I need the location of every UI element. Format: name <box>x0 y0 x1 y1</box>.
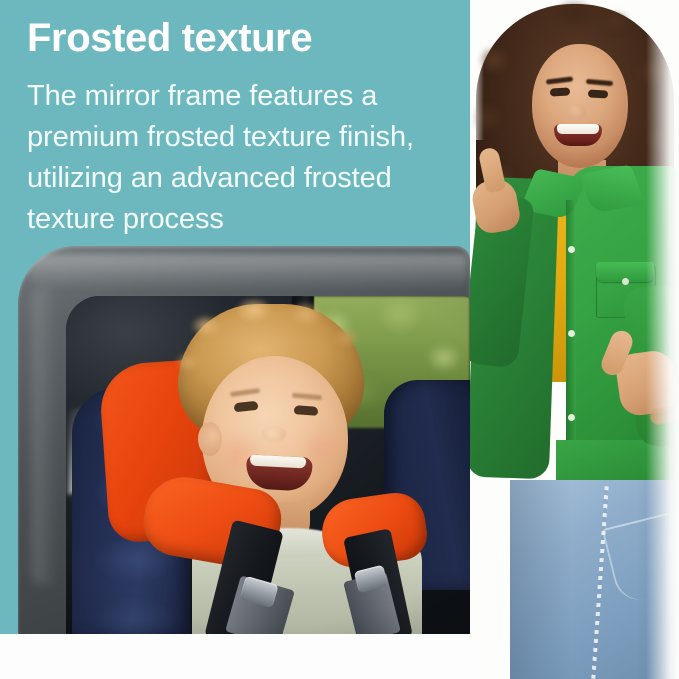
woman-teeth <box>557 124 599 134</box>
mirror-glass <box>66 296 470 636</box>
description-line: premium frosted texture finish, <box>27 117 452 158</box>
baby-car-mirror-photo <box>18 246 470 636</box>
backdrop-fade-left <box>470 0 484 140</box>
woman-eye-left <box>550 87 571 96</box>
description-line: texture process <box>27 199 452 240</box>
page-title: Frosted texture <box>27 14 452 62</box>
woman-shirt-button <box>568 246 575 253</box>
feature-copy-block: Frosted texture The mirror frame feature… <box>27 14 452 240</box>
woman-shirt-button <box>568 414 575 421</box>
woman-shirt-pocket-button <box>622 278 629 285</box>
woman-nose <box>568 104 586 120</box>
frame-highlight-left <box>32 286 58 586</box>
baby-nose <box>262 426 286 442</box>
baby-eye-right <box>294 405 319 416</box>
feature-description: The mirror frame features a premium fros… <box>27 76 452 240</box>
left-teal-panel: Frosted texture The mirror frame feature… <box>0 0 470 679</box>
description-line: The mirror frame features a <box>27 76 452 117</box>
right-model-panel <box>470 0 679 679</box>
frame-highlight <box>28 254 468 288</box>
product-feature-banner: Frosted texture The mirror frame feature… <box>0 0 679 679</box>
description-line: utilizing an advanced frosted <box>27 158 452 199</box>
backdrop-fade-right <box>646 0 679 679</box>
woman-shirt-button <box>568 330 575 337</box>
bottom-white-band <box>0 634 470 679</box>
woman-eye-right <box>588 89 608 98</box>
